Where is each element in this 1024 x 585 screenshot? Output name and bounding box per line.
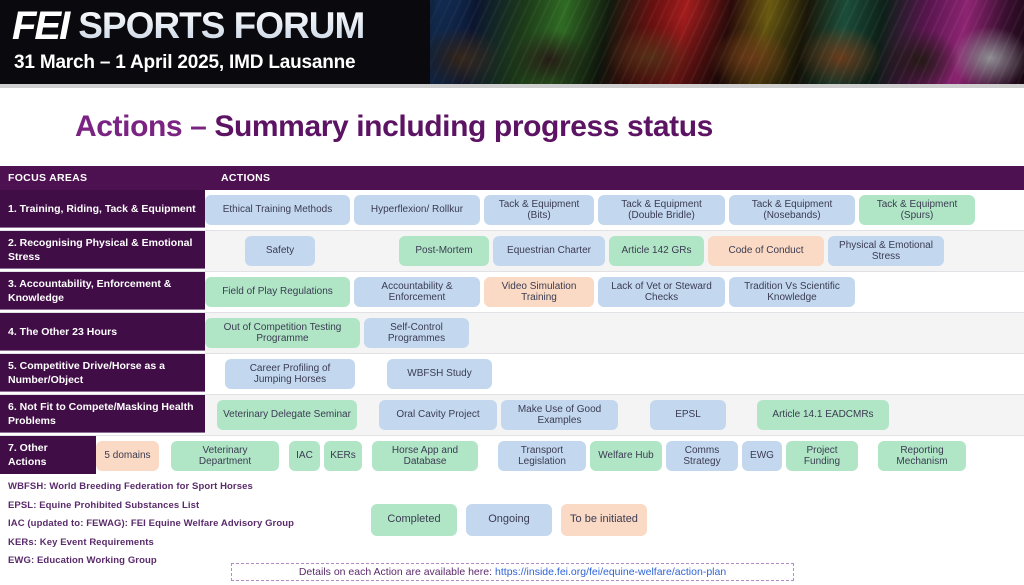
table-row: 4. The Other 23 HoursOut of Competition …: [0, 313, 1024, 354]
abbreviation-line: KERs: Key Event Requirements: [8, 534, 294, 553]
action-pill[interactable]: Tack & Equipment (Spurs): [859, 195, 975, 225]
action-pill[interactable]: Tack & Equipment (Nosebands): [729, 195, 855, 225]
abbreviation-line: IAC (updated to: FEWAG): FEI Equine Welf…: [8, 515, 294, 534]
action-pill[interactable]: Video Simulation Training: [484, 277, 594, 307]
equestrian-photo-montage: [400, 0, 1024, 88]
action-pill[interactable]: Accountability & Enforcement: [354, 277, 480, 307]
table-header-row: FOCUS AREAS ACTIONS: [0, 166, 1024, 190]
action-pill[interactable]: Hyperflexion/ Rollkur: [354, 195, 480, 225]
event-date-location: 31 March – 1 April 2025, IMD Lausanne: [14, 52, 355, 74]
action-pill[interactable]: Lack of Vet or Steward Checks: [598, 277, 725, 307]
action-pill[interactable]: Equestrian Charter: [493, 236, 605, 266]
action-pill[interactable]: Project Funding: [786, 441, 858, 471]
action-pill-group: Veterinary Delegate SeminarOral Cavity P…: [205, 395, 1024, 435]
abbreviation-line: EPSL: Equine Prohibited Substances List: [8, 497, 294, 516]
event-banner: FEI SPORTS FORUM 31 March – 1 April 2025…: [0, 0, 1024, 88]
action-pill[interactable]: Horse App and Database: [372, 441, 478, 471]
pill-spacer: [205, 236, 245, 266]
action-pill[interactable]: Code of Conduct: [708, 236, 824, 266]
focus-area-label: 1. Training, Riding, Tack & Equipment: [0, 190, 205, 228]
action-pill[interactable]: Safety: [245, 236, 315, 266]
page-title: Actions – Summary including progress sta…: [75, 110, 713, 144]
column-header-focus-areas: FOCUS AREAS: [0, 172, 213, 184]
focus-area-label: 4. The Other 23 Hours: [0, 313, 205, 351]
legend-to-be-initiated: To be initiated: [561, 504, 647, 536]
table-row: 3. Accountability, Enforcement & Knowled…: [0, 272, 1024, 313]
action-pill[interactable]: Out of Competition Testing Programme: [205, 318, 360, 348]
action-pill[interactable]: IAC: [289, 441, 320, 471]
table-row: 5. Competitive Drive/Horse as a Number/O…: [0, 354, 1024, 395]
action-pill[interactable]: Post-Mortem: [399, 236, 489, 266]
table-row: 2. Recognising Physical & Emotional Stre…: [0, 231, 1024, 272]
action-pill[interactable]: Veterinary Delegate Seminar: [217, 400, 357, 430]
action-pill[interactable]: EWG: [742, 441, 782, 471]
action-pill[interactable]: Article 142 GRs: [609, 236, 704, 266]
fei-logo: FEI SPORTS FORUM: [12, 6, 364, 46]
action-pill-group: Out of Competition Testing ProgrammeSelf…: [205, 313, 1024, 353]
pill-spacer: [730, 400, 757, 430]
action-pill[interactable]: Self-Control Programmes: [364, 318, 469, 348]
footer-link-label: Details on each Action are available her…: [299, 566, 492, 578]
table-row: 6. Not Fit to Compete/Masking Health Pro…: [0, 395, 1024, 436]
action-pill[interactable]: Tack & Equipment (Double Bridle): [598, 195, 725, 225]
action-pill[interactable]: Comms Strategy: [666, 441, 738, 471]
table-row: 1. Training, Riding, Tack & EquipmentEth…: [0, 190, 1024, 231]
table-row: 7. Other Actions5 domainsVeterinary Depa…: [0, 436, 1024, 476]
action-pill[interactable]: EPSL: [650, 400, 726, 430]
action-pill[interactable]: Physical & Emotional Stress: [828, 236, 944, 266]
action-pill-group: SafetyPost-MortemEquestrian CharterArtic…: [205, 231, 1024, 271]
abbreviation-line: WBFSH: World Breeding Federation for Spo…: [8, 478, 294, 497]
banner-bottom-rule: [0, 84, 1024, 88]
abbreviations-list: WBFSH: World Breeding Federation for Spo…: [8, 478, 294, 571]
legend-ongoing: Ongoing: [466, 504, 552, 536]
action-pill[interactable]: Oral Cavity Project: [379, 400, 497, 430]
action-pill-group: Field of Play RegulationsAccountability …: [205, 272, 1024, 312]
action-pill[interactable]: KERs: [324, 441, 362, 471]
focus-area-label: 6. Not Fit to Compete/Masking Health Pro…: [0, 395, 205, 433]
sports-forum-wordmark: SPORTS FORUM: [78, 6, 364, 46]
pill-spacer: [163, 441, 171, 471]
footer-link-url[interactable]: https://inside.fei.org/fei/equine-welfar…: [495, 566, 726, 578]
action-pill[interactable]: Make Use of Good Examples: [501, 400, 618, 430]
action-pill[interactable]: 5 domains: [96, 441, 159, 471]
action-pill[interactable]: Veterinary Department: [171, 441, 279, 471]
action-pill[interactable]: Reporting Mechanism: [878, 441, 966, 471]
pill-spacer: [205, 400, 217, 430]
page-title-part1: Actions –: [75, 110, 214, 143]
pill-spacer: [482, 441, 498, 471]
focus-area-label: 7. Other Actions: [0, 436, 96, 474]
slide-root: FEI SPORTS FORUM 31 March – 1 April 2025…: [0, 0, 1024, 585]
action-pill[interactable]: Transport Legislation: [498, 441, 586, 471]
pill-spacer: [622, 400, 650, 430]
action-pill[interactable]: Tack & Equipment (Bits): [484, 195, 594, 225]
action-pill[interactable]: WBFSH Study: [387, 359, 492, 389]
footer-link-box[interactable]: Details on each Action are available her…: [231, 563, 794, 581]
actions-summary-table: FOCUS AREAS ACTIONS 1. Training, Riding,…: [0, 166, 1024, 476]
action-pill[interactable]: Welfare Hub: [590, 441, 662, 471]
legend-completed: Completed: [371, 504, 457, 536]
fei-logo-mark: FEI: [12, 6, 68, 46]
focus-area-label: 3. Accountability, Enforcement & Knowled…: [0, 272, 205, 310]
focus-area-label: 5. Competitive Drive/Horse as a Number/O…: [0, 354, 205, 392]
table-body: 1. Training, Riding, Tack & EquipmentEth…: [0, 190, 1024, 476]
focus-area-label: 2. Recognising Physical & Emotional Stre…: [0, 231, 205, 269]
action-pill[interactable]: Tradition Vs Scientific Knowledge: [729, 277, 855, 307]
action-pill-group: Ethical Training MethodsHyperflexion/ Ro…: [205, 190, 1024, 230]
status-legend: Completed Ongoing To be initiated: [371, 504, 656, 536]
column-header-actions: ACTIONS: [213, 172, 270, 184]
action-pill[interactable]: Ethical Training Methods: [205, 195, 350, 225]
action-pill-group: Career Profiling of Jumping HorsesWBFSH …: [205, 354, 1024, 394]
pill-spacer: [359, 359, 387, 389]
pill-spacer: [319, 236, 399, 266]
action-pill[interactable]: Article 14.1 EADCMRs: [757, 400, 889, 430]
action-pill[interactable]: Field of Play Regulations: [205, 277, 350, 307]
pill-spacer: [361, 400, 379, 430]
pill-spacer: [205, 359, 225, 389]
action-pill-group: 5 domainsVeterinary DepartmentIACKERsHor…: [96, 436, 1024, 476]
pill-spacer: [862, 441, 878, 471]
action-pill[interactable]: Career Profiling of Jumping Horses: [225, 359, 355, 389]
page-title-part2: Summary including progress status: [214, 110, 713, 143]
